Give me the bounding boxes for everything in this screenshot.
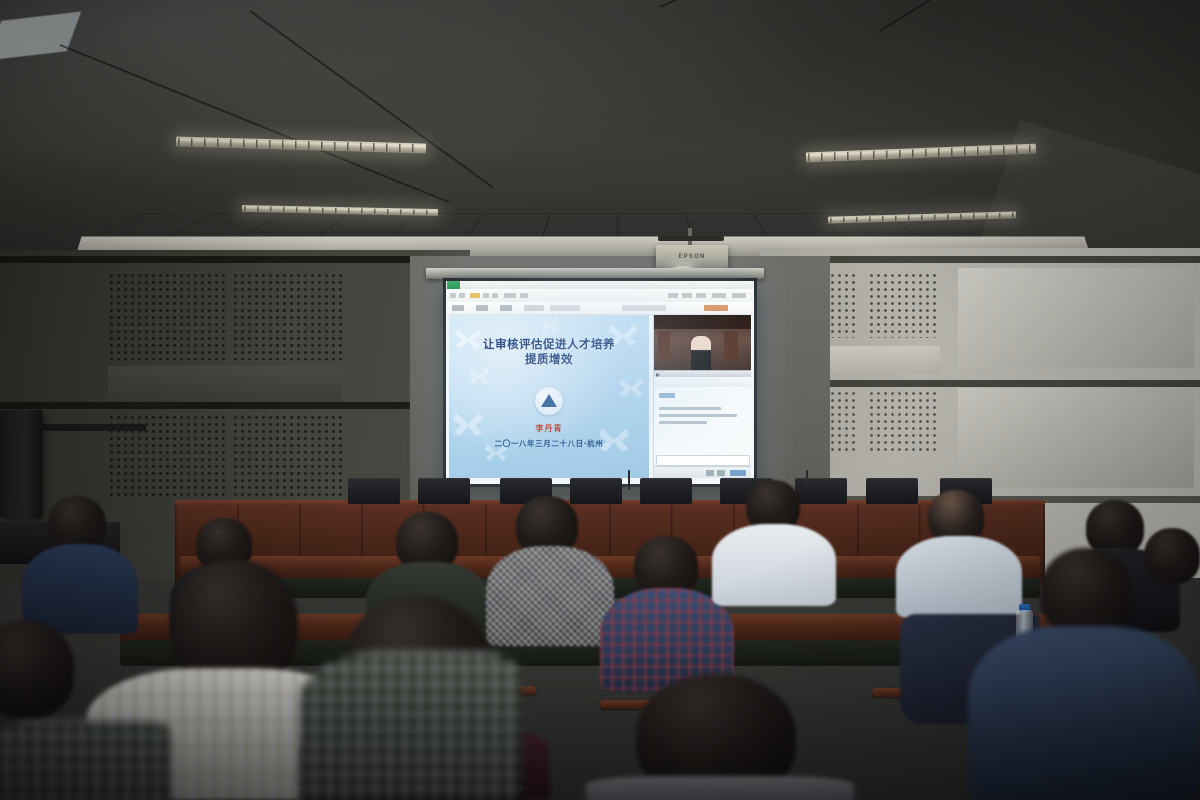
person-head — [1040, 548, 1132, 636]
ribbon-icon[interactable] — [450, 293, 456, 298]
wall-panel — [958, 268, 1194, 368]
wall-panel — [958, 388, 1194, 488]
person-torso — [486, 546, 614, 646]
chat-username — [659, 393, 675, 398]
emoji-icon[interactable] — [706, 470, 714, 476]
slide-presenter-name: 李丹青 — [449, 423, 649, 434]
chat-message-text — [659, 421, 707, 424]
video-controls[interactable] — [654, 370, 751, 377]
projection-screen: 让审核评估促进人才培养 提质增效 李丹青 二〇一八年三月二十八日·杭州 — [446, 281, 754, 484]
ribbon-label[interactable] — [524, 305, 544, 311]
projector: EPSON — [656, 245, 728, 268]
projection-screen-frame: 让审核评估促进人才培养 提质增效 李丹青 二〇一八年三月二十八日·杭州 — [443, 278, 757, 487]
video-speaker-figure — [691, 336, 711, 372]
projector-arm — [658, 236, 724, 241]
chat-message-text — [659, 407, 721, 410]
front-row-chair — [418, 478, 470, 504]
ribbon-icon[interactable] — [483, 293, 489, 298]
ribbon-icon[interactable] — [520, 293, 528, 298]
play-icon[interactable] — [656, 373, 660, 377]
butterfly-decor — [541, 317, 559, 332]
presentation-slide: 让审核评估促进人才培养 提质增效 李丹青 二〇一八年三月二十八日·杭州 — [449, 315, 649, 478]
ribbon-label[interactable] — [704, 305, 728, 311]
person-torso — [586, 776, 854, 800]
front-row-chair — [640, 478, 692, 504]
ribbon-icon[interactable] — [696, 293, 706, 298]
video-background — [658, 331, 670, 361]
ribbon-label — [550, 305, 580, 311]
person-torso — [896, 536, 1022, 618]
acoustic-panel — [868, 272, 940, 338]
person-head — [0, 620, 74, 718]
front-row-chair — [348, 478, 400, 504]
butterfly-decor — [619, 377, 643, 397]
ribbon-label — [622, 305, 666, 311]
person-torso — [712, 524, 836, 606]
ribbon-icon[interactable] — [668, 293, 678, 298]
acoustic-panel — [232, 272, 342, 360]
ceiling — [0, 0, 1200, 268]
acoustic-panel — [868, 390, 940, 452]
person-torso — [0, 720, 170, 800]
person-head — [1144, 528, 1200, 584]
ribbon-label[interactable] — [476, 305, 488, 311]
projector-brand-label: EPSON — [678, 254, 705, 260]
slide-date-location: 二〇一八年三月二十八日·杭州 — [449, 438, 649, 449]
send-button[interactable] — [730, 470, 746, 476]
acoustic-panel — [108, 272, 226, 360]
front-row-chair — [866, 478, 918, 504]
wall-trim-band — [0, 402, 470, 409]
video-background — [724, 331, 738, 361]
ribbon-icon[interactable] — [459, 293, 465, 298]
slide-title-line-1: 让审核评估促进人才培养 — [449, 337, 649, 352]
app-ribbon-toolbar — [446, 289, 754, 303]
chat-message-text — [659, 414, 737, 417]
ribbon-icon[interactable] — [682, 293, 692, 298]
speaker-bracket — [38, 424, 146, 431]
acoustic-panel — [232, 414, 342, 500]
video-feed[interactable] — [654, 315, 751, 377]
app-tab[interactable] — [447, 281, 460, 289]
front-row-chair — [795, 478, 847, 504]
microphone — [628, 470, 630, 490]
microphone — [806, 470, 808, 490]
chat-input-field[interactable] — [656, 455, 750, 466]
person-torso — [298, 652, 522, 800]
app-ribbon-secondary — [446, 302, 754, 315]
chat-message-list — [654, 387, 751, 464]
ribbon-label[interactable] — [500, 305, 512, 311]
ribbon-icon[interactable] — [470, 293, 480, 298]
wall-panel — [108, 366, 342, 402]
ribbon-icon[interactable] — [504, 293, 516, 298]
ribbon-icon[interactable] — [712, 293, 726, 298]
butterfly-decor — [469, 367, 489, 384]
attach-icon[interactable] — [717, 470, 725, 476]
institution-logo — [535, 387, 563, 415]
conference-hall-photo: EPSON — [0, 0, 1200, 800]
video-background — [654, 315, 751, 329]
wall-trim-band — [0, 256, 470, 263]
slide-title-line-2: 提质增效 — [449, 352, 649, 367]
wall-speaker — [0, 410, 42, 518]
slide-title: 让审核评估促进人才培养 提质增效 — [449, 337, 649, 367]
logo-mountain-icon — [541, 394, 557, 407]
ribbon-icon[interactable] — [492, 293, 498, 298]
ribbon-icon[interactable] — [732, 293, 746, 298]
ribbon-label[interactable] — [452, 305, 464, 311]
chat-action-bar — [654, 466, 751, 478]
person-torso — [968, 626, 1200, 800]
front-row-chair — [570, 478, 622, 504]
live-stream-panel — [653, 315, 751, 478]
